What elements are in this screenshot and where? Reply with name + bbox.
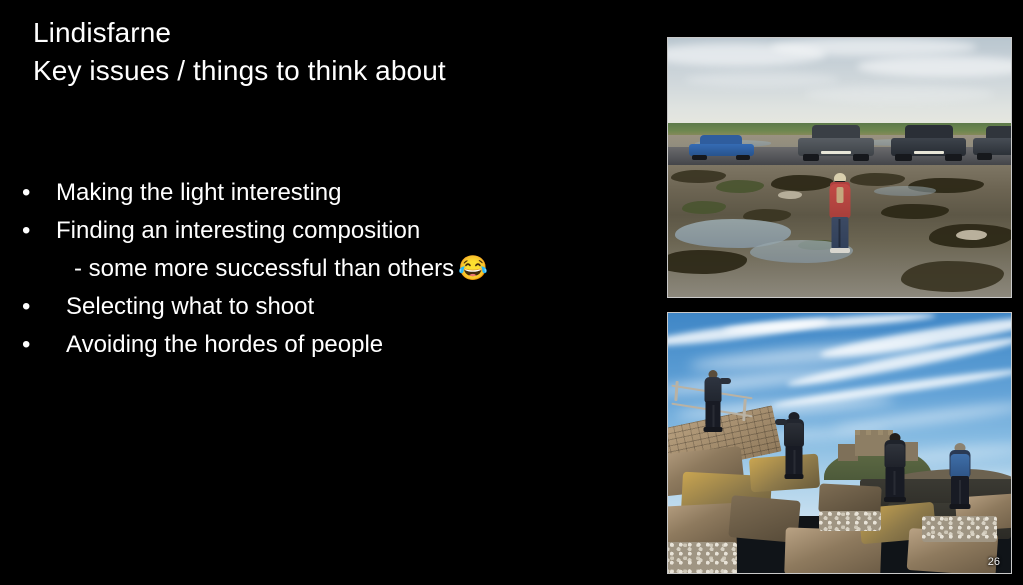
bullet-item-3: • Selecting what to shoot [22, 288, 642, 326]
photographer-arm [719, 378, 731, 384]
causeway-photographer-photo [667, 37, 1012, 298]
face-with-tears-of-joy-icon: 😂 [458, 250, 488, 288]
photographer-boots [785, 474, 804, 479]
bullet-label: Selecting what to shoot [66, 288, 314, 326]
photographer-with-blue-backpack [946, 443, 974, 515]
photographer-figure [828, 173, 852, 255]
bullet-item-4: • Avoiding the hordes of people [22, 326, 642, 364]
car-wheel [692, 155, 706, 160]
photographer-arm [775, 419, 787, 425]
castle-photo-content [668, 313, 1011, 573]
car-wheel [977, 153, 992, 160]
car-blue-hatchback [689, 135, 754, 160]
bullet-marker-icon: • [22, 212, 56, 250]
photographer-boots [884, 497, 906, 502]
photographer-scarf [836, 187, 843, 203]
castle-crenellation [866, 430, 871, 435]
bullet-sub-note: - some more successful than others 😂 [22, 250, 642, 288]
car-wheel [736, 155, 750, 160]
bullet-label: Avoiding the hordes of people [66, 326, 383, 364]
photographer-legs [706, 401, 721, 429]
title-line-1: Lindisfarne [33, 14, 633, 52]
bullet-marker-icon: • [22, 288, 66, 326]
page-number: 26 [988, 556, 1000, 569]
car-wheel [803, 154, 820, 161]
slide-body: • Making the light interesting • Finding… [22, 174, 642, 364]
photographer-with-black-backpack [781, 412, 807, 482]
car-edge-suv [973, 126, 1011, 160]
photographer-legs [951, 476, 969, 506]
shingle-patch [922, 516, 997, 542]
bullet-label: Making the light interesting [56, 174, 342, 212]
photographer-boots [704, 427, 723, 432]
car-number-plate [821, 151, 851, 154]
pale-stone [778, 191, 802, 199]
cloud-shape [805, 85, 994, 103]
car-number-plate [914, 151, 944, 154]
slide-canvas: Lindisfarne Key issues / things to think… [0, 0, 1023, 585]
slide-title: Lindisfarne Key issues / things to think… [33, 14, 633, 90]
car-dark-suv [891, 125, 966, 161]
bullet-marker-icon: • [22, 174, 56, 212]
backpack-icon [785, 423, 803, 448]
castle-crenellation [855, 430, 860, 435]
cloud-shape [685, 72, 839, 88]
photographer-legs [786, 446, 803, 476]
photographer-jeans [831, 217, 848, 249]
photographer-on-wall [702, 370, 724, 434]
photographer-shoes [830, 248, 850, 253]
car-wheel [945, 154, 962, 161]
photographer-legs [885, 467, 904, 499]
seaweed-clump [850, 173, 905, 186]
bullet-sub-label: - some more successful than others [74, 250, 454, 288]
photographer-boots [949, 504, 970, 509]
bullet-item-1: • Making the light interesting [22, 174, 642, 212]
castle-photographers-photo: 26 [667, 312, 1012, 574]
car-wheel [895, 154, 912, 161]
title-line-2: Key issues / things to think about [33, 52, 633, 90]
bullet-item-2: • Finding an interesting composition [22, 212, 642, 250]
shingle-patch [668, 542, 737, 573]
pale-stone [956, 230, 987, 240]
bullet-label: Finding an interesting composition [56, 212, 420, 250]
car-grey-suv [798, 125, 873, 161]
causeway-photo-content [668, 38, 1011, 297]
bullet-marker-icon: • [22, 326, 66, 364]
cloud-shape [771, 38, 977, 56]
photographer-centre [881, 433, 909, 507]
car-wheel [853, 154, 870, 161]
tidal-pool [874, 186, 936, 196]
shingle-patch [819, 511, 881, 532]
